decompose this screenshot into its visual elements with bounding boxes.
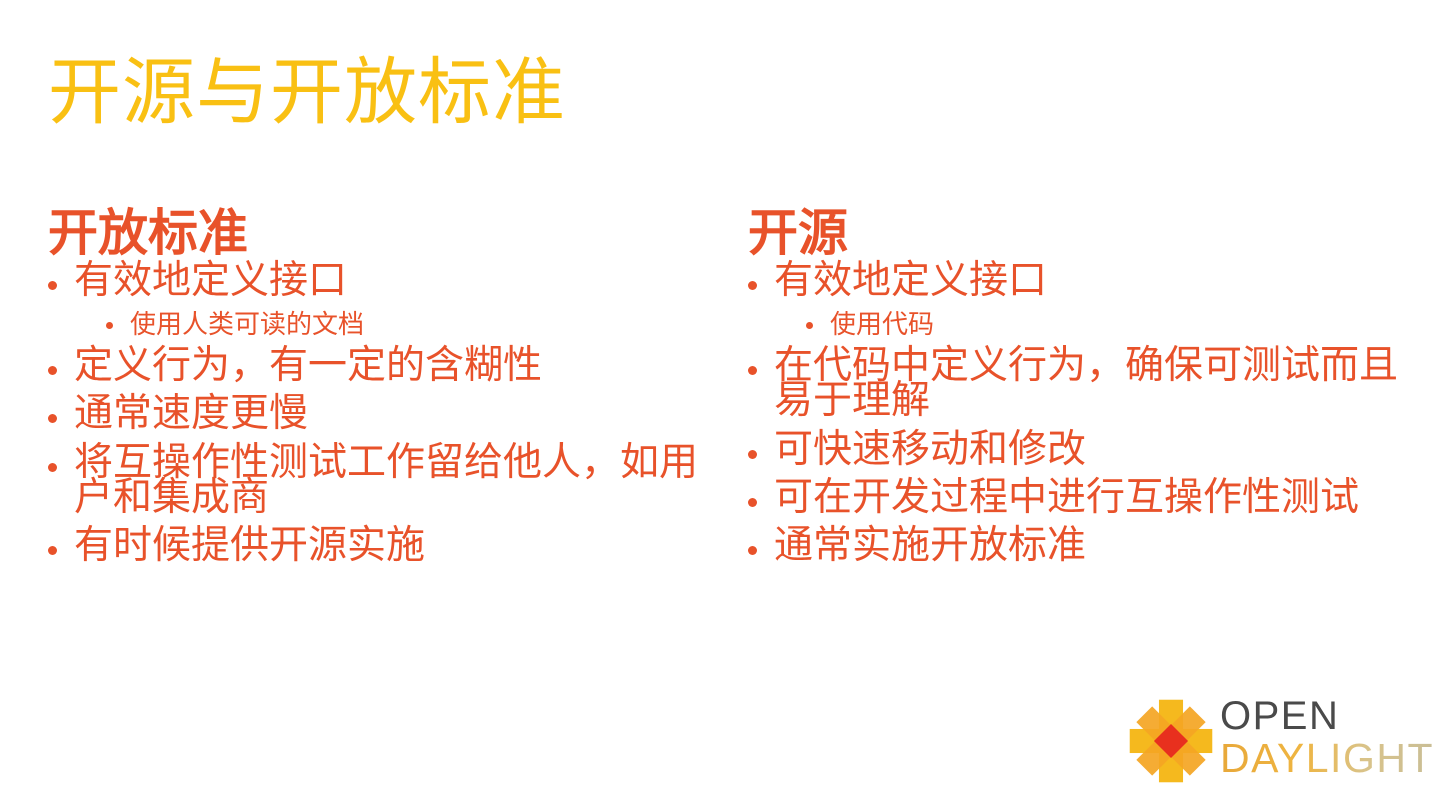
bullet-dot-icon (748, 281, 757, 290)
sub-bullet-text: 使用代码 (830, 309, 934, 339)
bullet-dot-icon (48, 546, 57, 555)
bullet-text: 在代码中定义行为，确保可测试而且易于理解 (774, 348, 1416, 418)
list-item: 将互操作性测试工作留给他人，如用户和集成商 (44, 445, 704, 515)
bullet-dot-icon (48, 463, 57, 472)
logo-text-open: OPEN (1220, 696, 1339, 736)
slide-canvas: 开源与开放标准 开放标准 有效地定义接口 使用人类可读的文档 定义行为，有 (0, 0, 1440, 810)
logo-text-daylight: DAYLIGHT (1220, 738, 1434, 779)
bullet-text: 通常实施开放标准 (774, 528, 1416, 563)
sub-bullet-dot-icon (806, 322, 813, 329)
list-item: 通常速度更慢 (44, 396, 704, 431)
bullet-text: 有效地定义接口 (774, 263, 1416, 298)
bullet-dot-icon (748, 366, 757, 375)
bullet-text: 可快速移动和修改 (774, 432, 1416, 467)
column-heading-open-standards: 开放标准 (48, 208, 704, 259)
sub-bullet-list: 使用代码 (744, 311, 1416, 338)
list-item: 可快速移动和修改 (744, 432, 1416, 467)
bullet-text: 有效地定义接口 (74, 263, 704, 298)
opendaylight-wordmark: OPEN DAYLIGHT (1220, 694, 1420, 790)
sub-list-item: 使用代码 (744, 311, 1416, 338)
sub-list-item: 使用人类可读的文档 (44, 311, 704, 338)
bullet-dot-icon (48, 366, 57, 375)
bullet-text: 定义行为，有一定的含糊性 (74, 348, 704, 383)
bullet-list-open-source: 有效地定义接口 使用代码 在代码中定义行为，确保可测试而且易于理解 可快速移动和… (744, 263, 1416, 563)
list-item: 在代码中定义行为，确保可测试而且易于理解 (744, 348, 1416, 418)
opendaylight-sun-icon (1128, 698, 1214, 784)
bullet-dot-icon (48, 281, 57, 290)
list-item: 可在开发过程中进行互操作性测试 (744, 480, 1416, 515)
opendaylight-logo: OPEN DAYLIGHT (1128, 694, 1420, 790)
bullet-dot-icon (748, 546, 757, 555)
bullet-text: 可在开发过程中进行互操作性测试 (774, 480, 1416, 515)
column-open-source: 开源 有效地定义接口 使用代码 在代码中定义行为，确保可测试而且易于理解 (744, 208, 1416, 576)
bullet-text: 将互操作性测试工作留给他人，如用户和集成商 (74, 445, 704, 515)
column-heading-open-source: 开源 (748, 208, 1416, 259)
page-title: 开源与开放标准 (48, 52, 566, 134)
bullet-text: 有时候提供开源实施 (74, 528, 704, 563)
list-item: 有时候提供开源实施 (44, 528, 704, 563)
bullet-list-open-standards: 有效地定义接口 使用人类可读的文档 定义行为，有一定的含糊性 通常速度更慢 (44, 263, 704, 563)
content-columns: 开放标准 有效地定义接口 使用人类可读的文档 定义行为，有一定的含糊性 (0, 208, 1440, 728)
list-item: 定义行为，有一定的含糊性 (44, 348, 704, 383)
bullet-dot-icon (748, 498, 757, 507)
list-item: 通常实施开放标准 (744, 528, 1416, 563)
list-item: 有效地定义接口 (744, 263, 1416, 298)
list-item: 有效地定义接口 (44, 263, 704, 298)
sub-bullet-dot-icon (106, 322, 113, 329)
bullet-text: 通常速度更慢 (74, 396, 704, 431)
sub-bullet-list: 使用人类可读的文档 (44, 311, 704, 338)
bullet-dot-icon (748, 450, 757, 459)
sub-bullet-text: 使用人类可读的文档 (130, 309, 364, 339)
bullet-dot-icon (48, 414, 57, 423)
column-open-standards: 开放标准 有效地定义接口 使用人类可读的文档 定义行为，有一定的含糊性 (44, 208, 704, 576)
